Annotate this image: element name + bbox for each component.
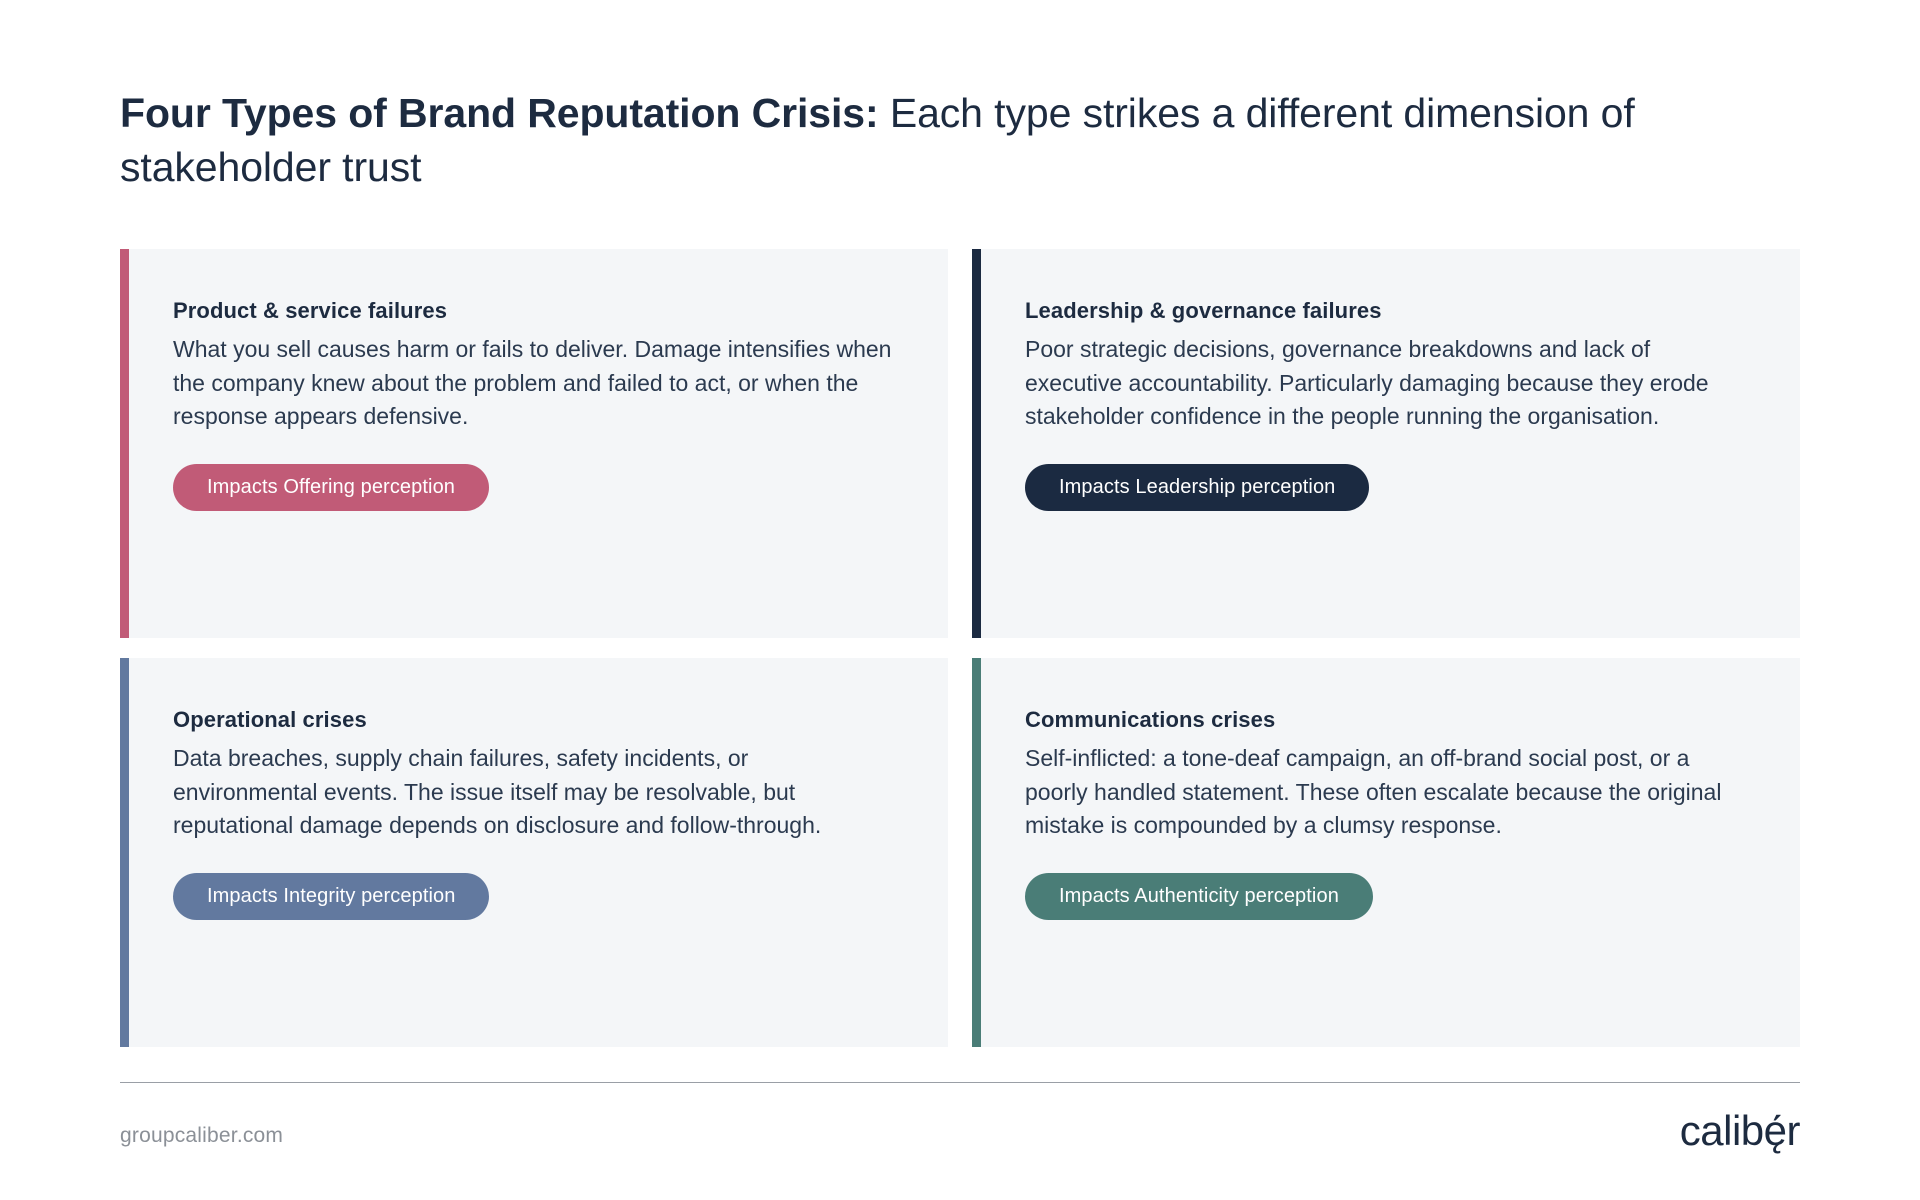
card-product-service-failures: Product & service failures What you sell… — [120, 249, 948, 638]
title-text: Four Types of Brand Reputation Crisis: E… — [120, 86, 1680, 194]
page-title: Four Types of Brand Reputation Crisis: E… — [120, 0, 1680, 194]
card-operational-crises: Operational crises Data breaches, supply… — [120, 658, 948, 1047]
pill-impacts-offering-perception[interactable]: Impacts Offering perception — [173, 464, 489, 511]
card-accent-bar-offering — [120, 249, 129, 638]
title-lead: Four Types of Brand Reputation Crisis: — [120, 90, 879, 136]
pill-impacts-authenticity-perception[interactable]: Impacts Authenticity perception — [1025, 873, 1373, 920]
footer: groupcaliber.com calibę́r — [120, 1106, 1800, 1148]
card-body: Self-inflicted: a tone-deaf campaign, an… — [1025, 742, 1744, 843]
card-body: Data breaches, supply chain failures, sa… — [173, 742, 892, 843]
card-title: Product & service failures — [173, 298, 892, 324]
card-title: Leadership & governance failures — [1025, 298, 1744, 324]
card-pill-wrap: Impacts Offering perception — [173, 434, 892, 511]
footer-website-url: groupcaliber.com — [120, 1124, 283, 1148]
card-communications-crises: Communications crises Self-inflicted: a … — [972, 658, 1800, 1047]
card-pill-wrap: Impacts Leadership perception — [1025, 434, 1744, 511]
pill-impacts-integrity-perception[interactable]: Impacts Integrity perception — [173, 873, 489, 920]
card-title: Communications crises — [1025, 707, 1744, 733]
card-body: Poor strategic decisions, governance bre… — [1025, 333, 1744, 434]
card-accent-bar-authenticity — [972, 658, 981, 1047]
card-accent-bar-leadership — [972, 249, 981, 638]
footer-divider — [120, 1082, 1800, 1083]
card-title: Operational crises — [173, 707, 892, 733]
card-accent-bar-integrity — [120, 658, 129, 1047]
card-pill-wrap: Impacts Authenticity perception — [1025, 843, 1744, 920]
crisis-card-grid: Product & service failures What you sell… — [120, 249, 1800, 1047]
pill-impacts-leadership-perception[interactable]: Impacts Leadership perception — [1025, 464, 1369, 511]
caliber-logo: calibę́r — [1680, 1110, 1800, 1152]
infographic-page: Four Types of Brand Reputation Crisis: E… — [0, 0, 1920, 1200]
card-leadership-governance-failures: Leadership & governance failures Poor st… — [972, 249, 1800, 638]
card-pill-wrap: Impacts Integrity perception — [173, 843, 892, 920]
card-body: What you sell causes harm or fails to de… — [173, 333, 892, 434]
